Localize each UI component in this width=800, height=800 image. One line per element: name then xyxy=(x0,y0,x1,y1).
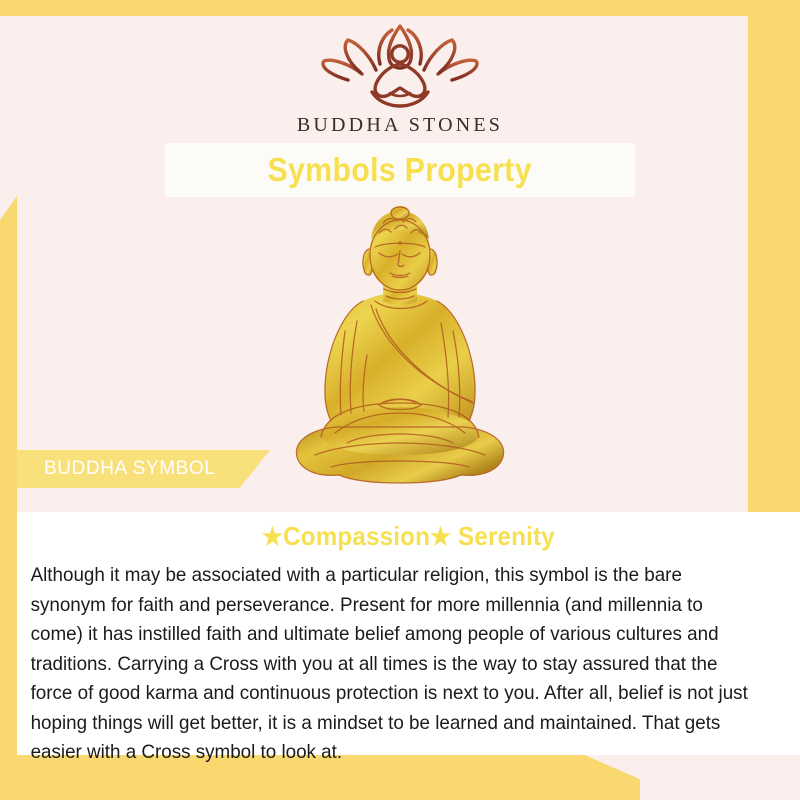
brand-wordmark: BUDDHA STONES xyxy=(0,114,800,137)
frame-top-bar xyxy=(0,0,800,16)
section-badge: BUDDHA SYMBOL xyxy=(17,450,270,488)
headline-word-compassion: Compassion xyxy=(283,521,430,551)
star-icon-left: ★ xyxy=(262,523,283,551)
title-banner: Symbols Property xyxy=(165,143,635,197)
frame-left-bar xyxy=(0,196,17,800)
star-icon-right: ★ xyxy=(430,523,451,551)
content-headline: ★Compassion★ Serenity xyxy=(44,512,772,552)
hero-image xyxy=(275,205,525,495)
content-body-text: Although it may be associated with a par… xyxy=(17,552,777,768)
brand-logo-block: BUDDHA STONES xyxy=(0,22,800,137)
lotus-meditation-figure-icon xyxy=(310,22,490,108)
golden-seated-buddha-statue-icon xyxy=(275,205,525,495)
content-panel: ★Compassion★ Serenity Although it may be… xyxy=(17,512,800,755)
page-title: Symbols Property xyxy=(268,151,532,189)
poster-canvas: BUDDHA STONES Symbols Property xyxy=(0,0,800,800)
headline-word-serenity: Serenity xyxy=(451,521,555,551)
section-badge-label: BUDDHA SYMBOL xyxy=(17,458,215,480)
